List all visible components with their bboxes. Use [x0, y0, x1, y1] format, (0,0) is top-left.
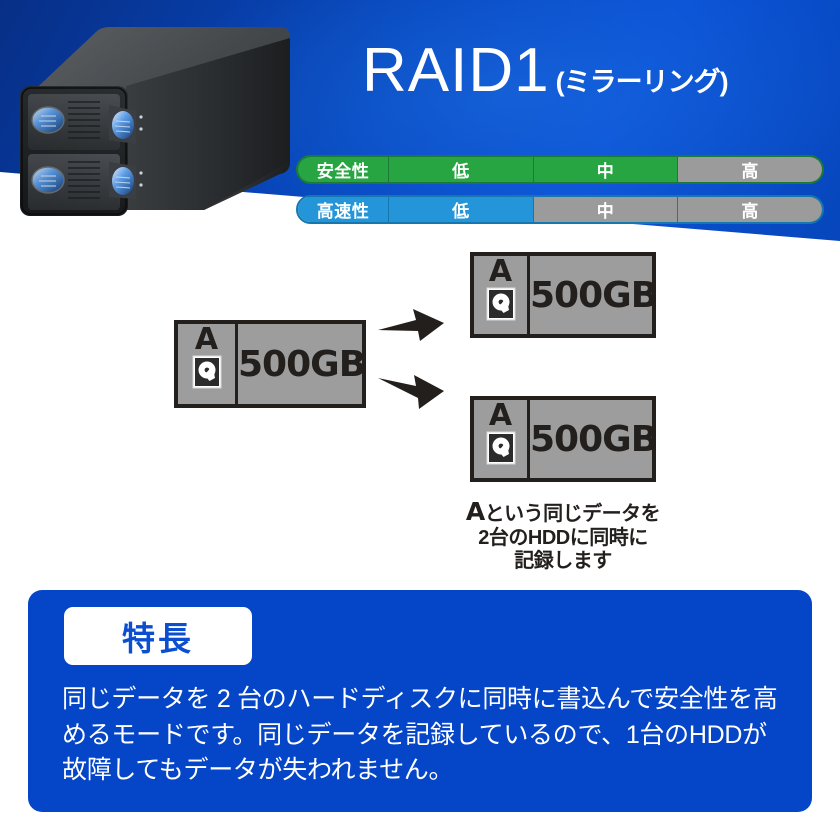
hdd-icon	[486, 431, 516, 465]
feature-description: 同じデータを 2 台のハードディスクに同時に書込んで安全性を高めるモードです。同…	[62, 682, 778, 789]
disk-target-1-letter: A	[489, 258, 512, 287]
hdd-icon	[486, 287, 516, 321]
disk-box-target-2: A 500GB	[470, 396, 656, 482]
rating-row-safety: 安全性 低 中 高	[296, 155, 824, 184]
page-title: RAID1 (ミラーリング)	[362, 40, 728, 102]
disk-box-source: A 500GB	[174, 320, 366, 408]
caption-line-3: 記録します	[438, 550, 688, 574]
disk-target-2-capacity: 500GB	[530, 400, 657, 478]
caption-line-2: 2台のHDDに同時に	[438, 527, 688, 551]
arrow-to-disk-1-icon	[376, 304, 446, 348]
disk-target-1-capacity: 500GB	[530, 256, 657, 334]
rating-label-speed: 高速性	[298, 197, 388, 222]
disk-source-id: A	[178, 324, 238, 404]
disk-target-2-letter: A	[489, 402, 512, 431]
hdd-enclosure-image	[8, 12, 308, 252]
caption-lead-letter: A	[466, 497, 485, 526]
hdd-icon	[192, 355, 222, 389]
raid1-infographic: RAID1 (ミラーリング) 安全性 低 中 高 高速性 低 中 高 A	[0, 0, 840, 840]
arrow-to-disk-2-icon	[376, 370, 446, 414]
rating-seg-speed-high: 高	[677, 197, 822, 222]
disk-box-target-1: A 500GB	[470, 252, 656, 338]
caption-line-1: Aという同じデータを	[438, 497, 688, 527]
rating-bars: 安全性 低 中 高 高速性 低 中 高	[296, 155, 824, 235]
feature-panel: 特長 同じデータを 2 台のハードディスクに同時に書込んで安全性を高めるモードで…	[28, 590, 812, 812]
title-main: RAID1	[362, 40, 550, 102]
rating-seg-safety-low: 低	[388, 157, 533, 182]
disk-source-capacity: 500GB	[238, 324, 365, 404]
diagram-caption: Aという同じデータを 2台のHDDに同時に 記録します	[438, 497, 688, 574]
mirroring-diagram: A 500GB A	[0, 248, 840, 588]
rating-label-safety: 安全性	[298, 157, 388, 182]
caption-line-1-rest: という同じデータを	[485, 503, 661, 525]
rating-seg-safety-medium: 中	[533, 157, 678, 182]
disk-target-1-id: A	[474, 256, 530, 334]
title-subtitle: (ミラーリング)	[556, 60, 728, 99]
rating-seg-speed-medium: 中	[533, 197, 678, 222]
rating-seg-safety-high: 高	[677, 157, 822, 182]
disk-target-2-id: A	[474, 400, 530, 478]
rating-seg-speed-low: 低	[388, 197, 533, 222]
disk-source-letter: A	[195, 326, 218, 355]
feature-badge: 特長	[64, 607, 252, 665]
rating-row-speed: 高速性 低 中 高	[296, 195, 824, 224]
